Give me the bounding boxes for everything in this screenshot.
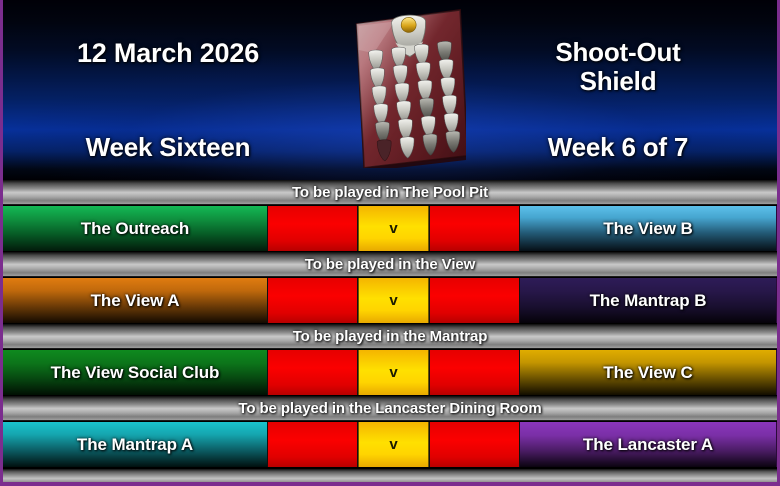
venue-bar: To be played in the Lancaster Dining Roo… [3, 396, 777, 421]
versus-cell: v [358, 278, 429, 323]
venue-bar: To be played in the Mantrap [3, 324, 777, 349]
versus-cell: v [358, 350, 429, 395]
away-team-name: The View C [603, 363, 692, 383]
away-team-cell[interactable]: The Lancaster A [520, 422, 776, 467]
header-right-column: Shoot-Out Shield Week 6 of 7 [459, 0, 777, 180]
home-score-cell[interactable] [267, 422, 358, 467]
home-team-name: The View Social Club [51, 363, 220, 383]
venue-bar: To be played in The Pool Pit [3, 180, 777, 205]
home-team-cell[interactable]: The Mantrap A [3, 422, 267, 467]
venue-label: To be played in The Pool Pit [292, 184, 488, 201]
match-date: 12 March 2026 [77, 38, 259, 68]
away-score-cell[interactable] [429, 422, 520, 467]
venue-bar: To be played in the View [3, 252, 777, 277]
fixture-row: The Mantrap A v The Lancaster A [3, 421, 777, 468]
competition-title: Shoot-Out Shield [555, 38, 680, 96]
venue-label: To be played in the Mantrap [293, 328, 488, 345]
home-team-name: The Outreach [81, 219, 189, 239]
footer-accent-line [3, 482, 777, 486]
fixture-row: The View A v The Mantrap B [3, 277, 777, 324]
fixture-row: The View Social Club v The View C [3, 349, 777, 396]
away-team-name: The Lancaster A [583, 435, 713, 455]
away-score-cell[interactable] [429, 350, 520, 395]
home-team-cell[interactable]: The View A [3, 278, 267, 323]
versus-label: v [389, 364, 397, 381]
board-header: 12 March 2026 Week Sixteen [3, 0, 777, 180]
versus-label: v [389, 292, 397, 309]
home-score-cell[interactable] [267, 278, 358, 323]
competition-title-line2: Shield [555, 67, 680, 96]
away-team-name: The View B [603, 219, 692, 239]
home-score-cell[interactable] [267, 206, 358, 251]
away-team-cell[interactable]: The View C [520, 350, 776, 395]
away-team-cell[interactable]: The Mantrap B [520, 278, 776, 323]
venue-label: To be played in the Lancaster Dining Roo… [238, 400, 541, 417]
versus-label: v [389, 220, 397, 237]
away-team-name: The Mantrap B [590, 291, 707, 311]
week-label: Week Sixteen [86, 133, 251, 162]
versus-cell: v [358, 422, 429, 467]
versus-label: v [389, 436, 397, 453]
venue-label: To be played in the View [305, 256, 475, 273]
home-score-cell[interactable] [267, 350, 358, 395]
home-team-cell[interactable]: The Outreach [3, 206, 267, 251]
fixtures-board: 12 March 2026 Week Sixteen [0, 0, 780, 486]
header-left-column: 12 March 2026 Week Sixteen [3, 0, 333, 180]
away-team-cell[interactable]: The View B [520, 206, 776, 251]
home-team-name: The View A [91, 291, 180, 311]
competition-title-line1: Shoot-Out [555, 38, 680, 67]
home-team-name: The Mantrap A [77, 435, 193, 455]
round-label: Week 6 of 7 [548, 133, 688, 162]
trophy-shield-plaque-icon [350, 6, 466, 168]
fixtures-list: To be played in The Pool Pit The Outreac… [3, 180, 777, 486]
away-score-cell[interactable] [429, 206, 520, 251]
away-score-cell[interactable] [429, 278, 520, 323]
versus-cell: v [358, 206, 429, 251]
home-team-cell[interactable]: The View Social Club [3, 350, 267, 395]
fixture-row: The Outreach v The View B [3, 205, 777, 252]
